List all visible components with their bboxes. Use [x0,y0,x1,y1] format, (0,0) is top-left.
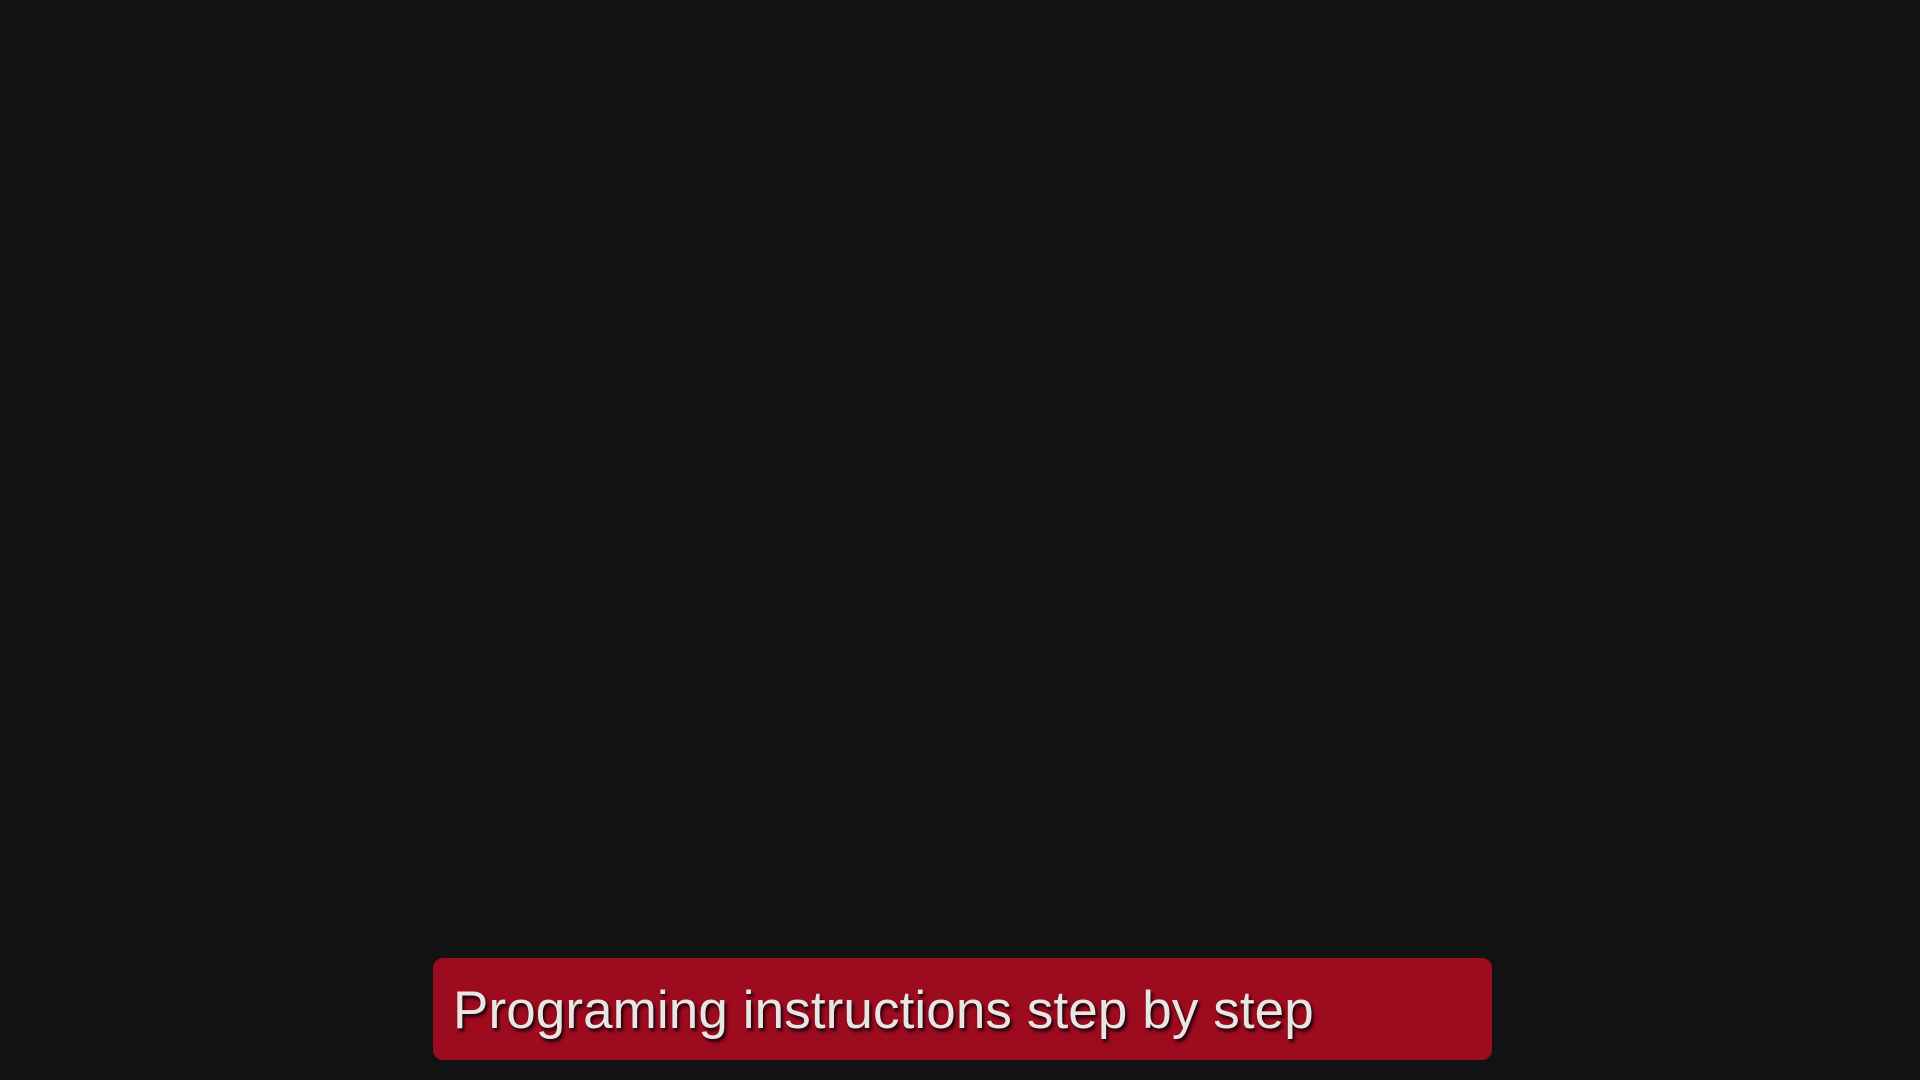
caption-banner[interactable]: Programing instructions step by step [433,958,1492,1060]
screen-root: Programing instructions step by step [0,0,1920,1080]
empty-content-stage [0,0,1920,958]
caption-banner-text: Programing instructions step by step [453,984,1314,1037]
